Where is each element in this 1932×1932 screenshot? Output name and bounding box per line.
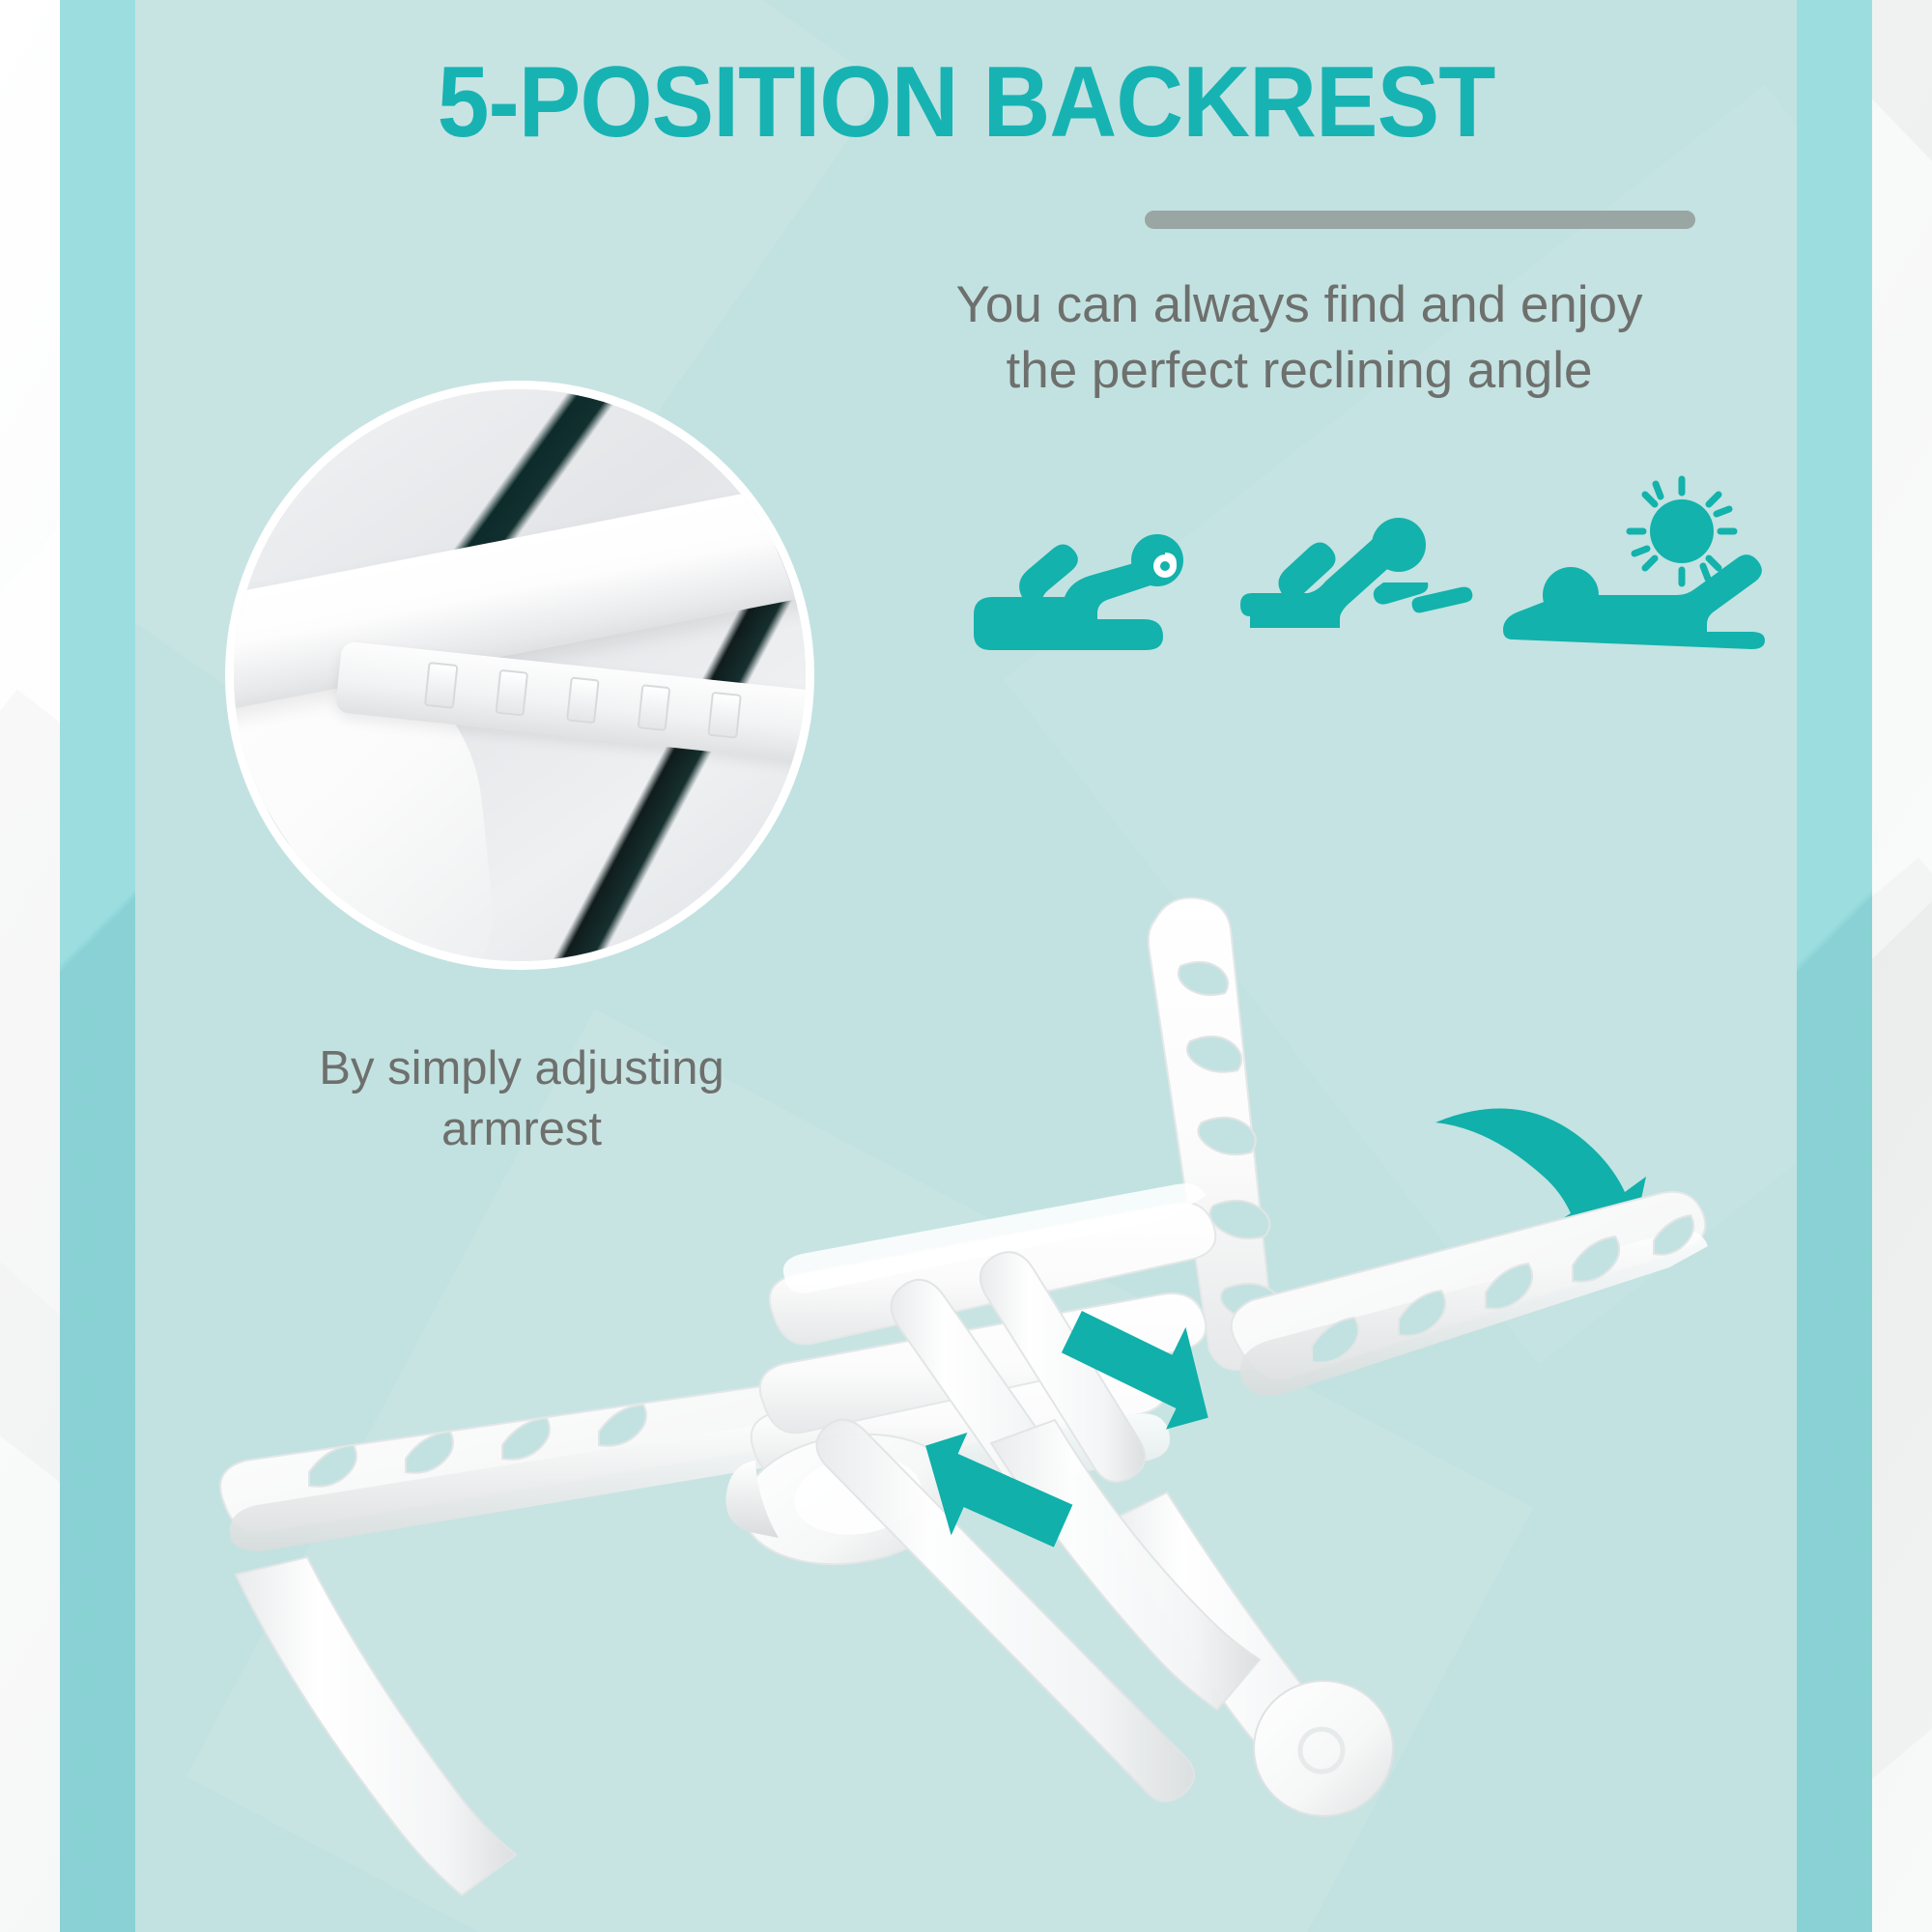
folding-reclining-sun-lounger-chair [0,0,1932,1932]
infographic-canvas: 5-POSITION BACKREST You can always find … [0,0,1932,1932]
chair-front-leg-left [236,1557,516,1895]
chair-caster-wheel [1254,1681,1393,1816]
chair-headrest-panel-right [1232,1192,1708,1396]
